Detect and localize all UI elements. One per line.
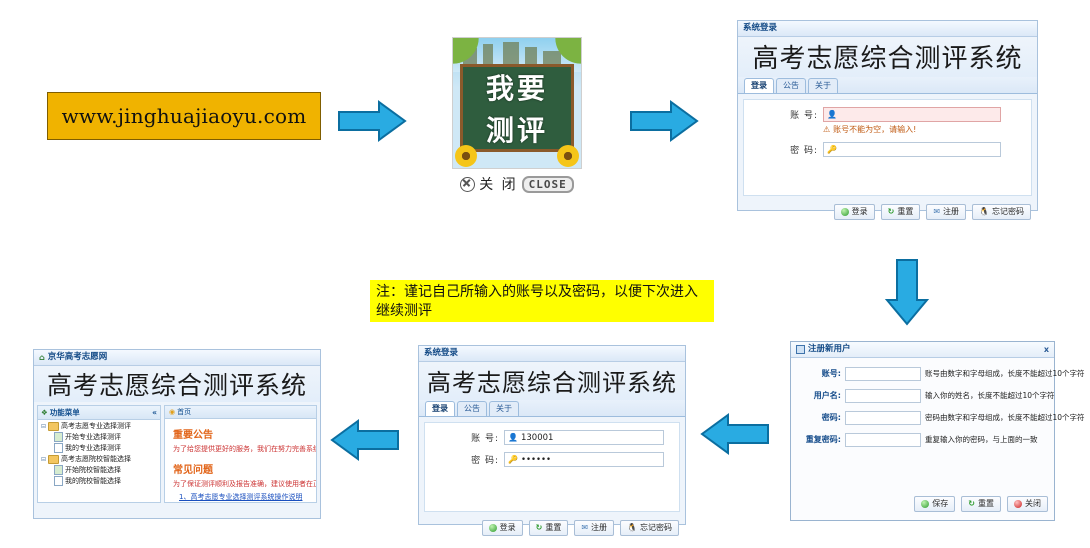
- close-circle-icon[interactable]: [460, 177, 475, 192]
- account-row: 账 号: 👤 130001: [425, 430, 679, 445]
- account-label: 账 号:: [425, 431, 504, 444]
- register-button[interactable]: ✉ 注册: [926, 204, 966, 220]
- page-icon: [54, 465, 63, 475]
- login-window-title: 系统登录: [743, 21, 777, 36]
- refresh-icon: ↻: [888, 208, 895, 216]
- check-circle-icon: [841, 208, 849, 216]
- register-button-bar: 保存 ↻ 重置 关闭: [914, 493, 1054, 516]
- note-box: 注：谨记自己所输入的账号以及密码，以便下次进入继续测评: [370, 280, 714, 322]
- account-error-message: ⚠ 账号不能为空，请输入!: [823, 124, 1031, 135]
- login-button-label: 登录: [500, 522, 516, 534]
- register-username-hint: 输入你的姓名，长度不能超过10个字符: [925, 388, 1085, 403]
- sidebar-item-start-school-selection[interactable]: 开始院校智能选择: [38, 464, 160, 475]
- ad-board-line1: 我要: [463, 68, 571, 110]
- register-window: 注册新用户 x 账号: 用户名: 密码: 重复密码: 账号由数字和字母组成，长度: [790, 341, 1055, 521]
- register-window-title: 注册新用户: [808, 342, 851, 357]
- arrow-register-to-login-filled: [700, 412, 770, 460]
- menu-icon: ❖: [41, 408, 48, 417]
- login-button[interactable]: 登录: [482, 520, 523, 536]
- key-icon: 🔑: [508, 456, 518, 464]
- register-button-label: 注册: [943, 206, 959, 218]
- reset-button[interactable]: ↻ 重置: [529, 520, 569, 536]
- sidebar-header-label: 功能菜单: [50, 407, 80, 418]
- arrow-login-to-register: [884, 258, 930, 330]
- login-button[interactable]: 登录: [834, 204, 875, 220]
- register-close-label: 关闭: [1025, 498, 1041, 510]
- popup-ad: 我要 测评 关 闭 CLOSE: [452, 37, 582, 202]
- ad-close-label[interactable]: 关 闭: [479, 174, 517, 194]
- notice-text: 为了给您提供更好的服务，我们在努力完善系统，目前江: [173, 444, 316, 454]
- ad-close-row[interactable]: 关 闭 CLOSE: [452, 174, 582, 194]
- password-input[interactable]: 🔑: [823, 142, 1001, 157]
- tab-about[interactable]: 关于: [489, 401, 519, 416]
- user-icon: 👤: [508, 434, 518, 442]
- account-label: 账 号:: [744, 108, 823, 121]
- register-repeat-password-row: 重复密码:: [797, 432, 921, 447]
- sidebar-group-label: 高考志愿院校智能选择: [61, 454, 131, 464]
- url-banner: www.jinghuajiaoyu.com: [47, 92, 321, 140]
- register-fields: 账号: 用户名: 密码: 重复密码:: [797, 366, 921, 454]
- notice-heading: 重要公告: [173, 426, 316, 441]
- refresh-icon: ↻: [968, 500, 975, 508]
- expander-icon[interactable]: ⊟: [41, 456, 46, 463]
- sidebar-group-label: 高考志愿专业选择测评: [61, 421, 131, 431]
- password-value: ••••••: [521, 455, 551, 465]
- tab-login[interactable]: 登录: [744, 78, 774, 93]
- forgot-password-label: 忘记密码: [640, 522, 672, 534]
- sidebar-collapse-button[interactable]: «: [152, 408, 157, 417]
- sidebar-item-label: 我的院校智能选择: [65, 476, 121, 486]
- register-account-input[interactable]: [845, 367, 921, 381]
- register-close-button[interactable]: 关闭: [1007, 496, 1048, 512]
- login-button-bar: 登录 ↻ 重置 ✉ 注册 🐧 忘记密码: [738, 201, 1037, 224]
- envelope-icon: ✉: [581, 524, 588, 532]
- register-username-label: 用户名:: [797, 390, 845, 401]
- ad-image[interactable]: 我要 测评: [452, 37, 582, 169]
- login-banner: 高考志愿综合测评系统: [738, 37, 1037, 77]
- account-input[interactable]: 👤: [823, 107, 1001, 122]
- page-icon: [54, 476, 63, 486]
- close-icon[interactable]: x: [1044, 342, 1049, 357]
- forgot-password-label: 忘记密码: [992, 206, 1024, 218]
- sunflower-left-icon: [455, 145, 477, 167]
- faq-text: 为了保证测评顺利及报告准确，建议使用者在正式使用前: [173, 479, 316, 489]
- main-window-title: 京华高考志愿网: [48, 350, 108, 365]
- sidebar-item-label: 开始院校智能选择: [65, 465, 121, 475]
- register-repeat-password-label: 重复密码:: [797, 434, 845, 445]
- content-link-1[interactable]: 1、高考志愿专业选择测评系统操作说明: [179, 492, 316, 502]
- login-button-label: 登录: [852, 206, 868, 218]
- register-password-label: 密码:: [797, 412, 845, 423]
- home-tab-icon: ◉: [169, 408, 175, 416]
- close-circle-icon: [1014, 500, 1022, 508]
- refresh-icon: ↻: [536, 524, 543, 532]
- sunflower-right-icon: [557, 145, 579, 167]
- sidebar-header: ❖ 功能菜单 «: [38, 406, 160, 420]
- login-form: 账 号: 👤 ⚠ 账号不能为空，请输入! 密 码: 🔑: [743, 99, 1032, 196]
- login-window-filled: 系统登录 高考志愿综合测评系统 登录 公告 关于 账 号: 👤 130001 密…: [418, 345, 686, 525]
- register-account-label: 账号:: [797, 368, 845, 379]
- password-row: 密 码: 🔑 ••••••: [425, 452, 679, 467]
- sidebar-item-label: 开始专业选择测评: [65, 432, 121, 442]
- main-window-titlebar: ⌂ 京华高考志愿网: [34, 350, 320, 366]
- ad-blackboard: 我要 测评: [460, 64, 574, 152]
- tab-notice[interactable]: 公告: [457, 401, 487, 416]
- register-reset-label: 重置: [978, 498, 994, 510]
- home-icon: ⌂: [39, 350, 45, 365]
- login-tabs: 登录 公告 关于: [738, 77, 1037, 94]
- page-icon: [54, 432, 63, 442]
- register-username-input[interactable]: [845, 389, 921, 403]
- forgot-password-button[interactable]: 🐧 忘记密码: [972, 204, 1031, 220]
- register-reset-button[interactable]: ↻ 重置: [961, 496, 1001, 512]
- content-pane: ◉ 首页 重要公告 为了给您提供更好的服务，我们在努力完善系统，目前江 常见问题…: [164, 405, 317, 503]
- login-filled-banner: 高考志愿综合测评系统: [419, 362, 685, 400]
- page-icon: [54, 443, 63, 453]
- save-icon: [921, 500, 929, 508]
- faq-heading: 常见问题: [173, 461, 316, 476]
- main-window: ⌂ 京华高考志愿网 高考志愿综合测评系统 ❖ 功能菜单 « ⊟ 高考志愿专业选择…: [33, 349, 321, 519]
- folder-icon: [48, 455, 59, 464]
- expander-icon[interactable]: ⊟: [41, 423, 46, 430]
- register-hints: 账号由数字和字母组成，长度不能超过10个字符 输入你的姓名，长度不能超过10个字…: [921, 366, 1085, 454]
- password-input[interactable]: 🔑 ••••••: [504, 452, 664, 467]
- login-filled-tabs: 登录 公告 关于: [419, 400, 685, 417]
- sidebar-group-major-assessment[interactable]: ⊟ 高考志愿专业选择测评: [38, 420, 160, 431]
- sidebar: ❖ 功能菜单 « ⊟ 高考志愿专业选择测评 开始专业选择测评 我的专业选择测评 …: [37, 405, 161, 503]
- note-text: 注：谨记自己所输入的账号以及密码，以便下次进入继续测评: [376, 283, 708, 321]
- tab-notice[interactable]: 公告: [776, 78, 806, 93]
- content-tabs: ◉ 首页: [165, 406, 316, 419]
- password-label: 密 码:: [744, 143, 823, 156]
- register-button[interactable]: ✉ 注册: [574, 520, 614, 536]
- window-icon: [796, 345, 805, 354]
- penguin-icon: 🐧: [627, 524, 637, 532]
- register-account-row: 账号:: [797, 366, 921, 381]
- check-circle-icon: [489, 524, 497, 532]
- register-username-row: 用户名:: [797, 388, 921, 403]
- account-value: 130001: [521, 433, 553, 443]
- register-account-hint: 账号由数字和字母组成，长度不能超过10个字符: [925, 366, 1085, 381]
- arrow-ad-to-login: [629, 99, 699, 147]
- register-password-input[interactable]: [845, 411, 921, 425]
- main-body: ❖ 功能菜单 « ⊟ 高考志愿专业选择测评 开始专业选择测评 我的专业选择测评 …: [34, 402, 320, 506]
- login-filled-titlebar: 系统登录: [419, 346, 685, 362]
- tab-home[interactable]: ◉ 首页: [169, 407, 191, 417]
- register-form: 账号: 用户名: 密码: 重复密码: 账号由数字和字母组成，长度不能超过10个字…: [791, 358, 1054, 454]
- save-button-label: 保存: [932, 498, 948, 510]
- login-window: 系统登录 高考志愿综合测评系统 登录 公告 关于 账 号: 👤 ⚠ 账号不能为空…: [737, 20, 1038, 211]
- main-banner: 高考志愿综合测评系统: [34, 366, 320, 402]
- penguin-icon: 🐧: [979, 208, 989, 216]
- account-input[interactable]: 👤 130001: [504, 430, 664, 445]
- login-window-titlebar: 系统登录: [738, 21, 1037, 37]
- account-error-text: 账号不能为空，请输入!: [833, 124, 916, 135]
- sidebar-item-start-major-assessment[interactable]: 开始专业选择测评: [38, 431, 160, 442]
- url-text: www.jinghuajiaoyu.com: [62, 104, 307, 128]
- login-filled-title: 系统登录: [424, 346, 458, 361]
- login-filled-button-bar: 登录 ↻ 重置 ✉ 注册 🐧 忘记密码: [419, 517, 685, 540]
- register-password-row: 密码:: [797, 410, 921, 425]
- register-repeat-password-hint: 重复输入你的密码，与上面的一致: [925, 432, 1085, 447]
- ad-board-line2: 测评: [463, 110, 571, 152]
- arrow-url-to-ad: [337, 99, 407, 147]
- save-button[interactable]: 保存: [914, 496, 955, 512]
- arrow-login-filled-to-main: [330, 418, 400, 466]
- reset-button-label: 重置: [545, 522, 561, 534]
- reset-button-label: 重置: [897, 206, 913, 218]
- password-row: 密 码: 🔑: [744, 142, 1031, 157]
- tab-home-label: 首页: [177, 407, 191, 417]
- sidebar-item-my-major-assessment[interactable]: 我的专业选择测评: [38, 442, 160, 453]
- sidebar-item-my-school-selection[interactable]: 我的院校智能选择: [38, 475, 160, 486]
- envelope-icon: ✉: [933, 208, 940, 216]
- account-row: 账 号: 👤: [744, 107, 1031, 122]
- forgot-password-button[interactable]: 🐧 忘记密码: [620, 520, 679, 536]
- key-icon: 🔑: [827, 146, 837, 154]
- folder-icon: [48, 422, 59, 431]
- register-repeat-password-input[interactable]: [845, 433, 921, 447]
- tab-about[interactable]: 关于: [808, 78, 838, 93]
- user-icon: 👤: [827, 111, 837, 119]
- login-filled-form: 账 号: 👤 130001 密 码: 🔑 ••••••: [424, 422, 680, 512]
- warning-icon: ⚠: [823, 126, 830, 134]
- register-password-hint: 密码由数字和字母组成，长度不能超过10个字符: [925, 410, 1085, 425]
- password-label: 密 码:: [425, 453, 504, 466]
- tab-login[interactable]: 登录: [425, 401, 455, 416]
- register-button-label: 注册: [591, 522, 607, 534]
- ad-close-badge[interactable]: CLOSE: [522, 176, 574, 193]
- register-window-titlebar: 注册新用户 x: [791, 342, 1054, 358]
- reset-button[interactable]: ↻ 重置: [881, 204, 921, 220]
- sidebar-item-label: 我的专业选择测评: [65, 443, 121, 453]
- sidebar-group-school-selection[interactable]: ⊟ 高考志愿院校智能选择: [38, 453, 160, 464]
